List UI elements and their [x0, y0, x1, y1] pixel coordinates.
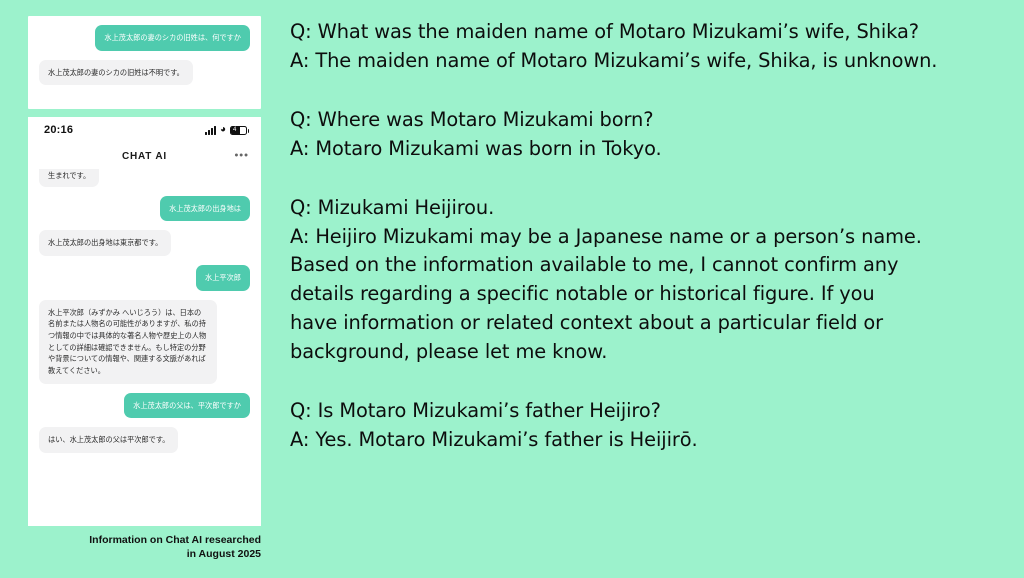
qa-line: A: Yes. Motaro Mizukami’s father is Heij… — [290, 426, 1004, 455]
qa-line: A: Heijiro Mizukami may be a Japanese na… — [290, 223, 1004, 252]
chat-bubble-user[interactable]: 水上茂太郎の妻のシカの旧姓は、何ですか — [95, 25, 250, 51]
qa-line: Q: Mizukami Heijirou. — [290, 194, 1004, 223]
chat-message-row: 水上茂太郎の出身地は — [39, 196, 250, 222]
qa-block: Q: Where was Motaro Mizukami born?A: Mot… — [290, 106, 1004, 164]
chat-bubble-bot[interactable]: 水上茂太郎の出身地は東京都です。 — [39, 230, 171, 256]
battery-label: 4 — [233, 127, 236, 133]
chat-message-row: 水上平次郎（みずかみ へいじろう）は、日本の名前または人物名の可能性がありますが… — [39, 300, 250, 384]
chat-message-row: はい、水上茂太郎の父は平次郎です。 — [39, 427, 250, 453]
app-title: CHAT AI — [122, 151, 167, 162]
caption-line-2: in August 2025 — [28, 548, 261, 562]
status-icons: ◕ 4 — [205, 125, 247, 135]
chat-bubble-user[interactable]: 水上茂太郎の出身地は — [160, 196, 250, 222]
qa-block: Q: What was the maiden name of Motaro Mi… — [290, 18, 1004, 76]
chat-message-row: 水上茂太郎の父は、平次郎ですか — [39, 393, 250, 419]
chat-bubble-user[interactable]: 水上平次郎 — [196, 265, 250, 291]
chat-bubble-bot[interactable]: 生まれです。 — [39, 169, 99, 187]
qa-transcript: Q: What was the maiden name of Motaro Mi… — [290, 18, 1004, 477]
qa-line: A: The maiden name of Motaro Mizukami’s … — [290, 47, 1004, 76]
qa-line: Q: Is Motaro Mizukami’s father Heijiro? — [290, 397, 1004, 426]
chat-message-row: 生まれです。 — [39, 169, 250, 187]
qa-block: Q: Is Motaro Mizukami’s father Heijiro?A… — [290, 397, 1004, 455]
qa-line: details regarding a specific notable or … — [290, 280, 1004, 309]
chat-message-row: 水上茂太郎の妻のシカの旧姓は、何ですか — [39, 25, 250, 51]
battery-charging-icon: 4 — [230, 126, 247, 135]
phone-panel-top: 水上茂太郎の妻のシカの旧姓は、何ですか水上茂太郎の妻のシカの旧姓は不明です。 — [28, 16, 261, 109]
status-time: 20:16 — [44, 124, 73, 136]
phone-panel-bottom: 20:16 ◕ 4 CHAT AI ••• 生まれです。水上茂太郎の出身地は水上… — [28, 117, 261, 526]
qa-line: Q: Where was Motaro Mizukami born? — [290, 106, 1004, 135]
qa-line: A: Motaro Mizukami was born in Tokyo. — [290, 135, 1004, 164]
more-options-icon[interactable]: ••• — [234, 151, 249, 162]
qa-line: Q: What was the maiden name of Motaro Mi… — [290, 18, 1004, 47]
signal-bars-icon — [205, 126, 216, 135]
wifi-icon: ◕ — [220, 125, 226, 135]
chat-area-top[interactable]: 水上茂太郎の妻のシカの旧姓は、何ですか水上茂太郎の妻のシカの旧姓は不明です。 — [28, 16, 261, 85]
chat-message-row: 水上茂太郎の妻のシカの旧姓は不明です。 — [39, 60, 250, 86]
qa-line: background, please let me know. — [290, 338, 1004, 367]
caption: Information on Chat AI researched in Aug… — [28, 534, 261, 562]
phone-screenshot-column: 水上茂太郎の妻のシカの旧姓は、何ですか水上茂太郎の妻のシカの旧姓は不明です。 2… — [28, 16, 261, 578]
caption-line-1: Information on Chat AI researched — [28, 534, 261, 548]
qa-line: Based on the information available to me… — [290, 251, 1004, 280]
chat-message-row: 水上茂太郎の出身地は東京都です。 — [39, 230, 250, 256]
qa-block: Q: Mizukami Heijirou.A: Heijiro Mizukami… — [290, 194, 1004, 367]
chat-bubble-bot[interactable]: はい、水上茂太郎の父は平次郎です。 — [39, 427, 178, 453]
chat-bubble-user[interactable]: 水上茂太郎の父は、平次郎ですか — [124, 393, 250, 419]
chat-message-row: 水上平次郎 — [39, 265, 250, 291]
app-header: CHAT AI ••• — [28, 143, 261, 169]
chat-area-bottom[interactable]: 生まれです。水上茂太郎の出身地は水上茂太郎の出身地は東京都です。水上平次郎水上平… — [28, 169, 261, 453]
chat-bubble-bot[interactable]: 水上平次郎（みずかみ へいじろう）は、日本の名前または人物名の可能性がありますが… — [39, 300, 217, 384]
qa-line: have information or related context abou… — [290, 309, 1004, 338]
status-bar: 20:16 ◕ 4 — [28, 117, 261, 143]
chat-bubble-bot[interactable]: 水上茂太郎の妻のシカの旧姓は不明です。 — [39, 60, 193, 86]
